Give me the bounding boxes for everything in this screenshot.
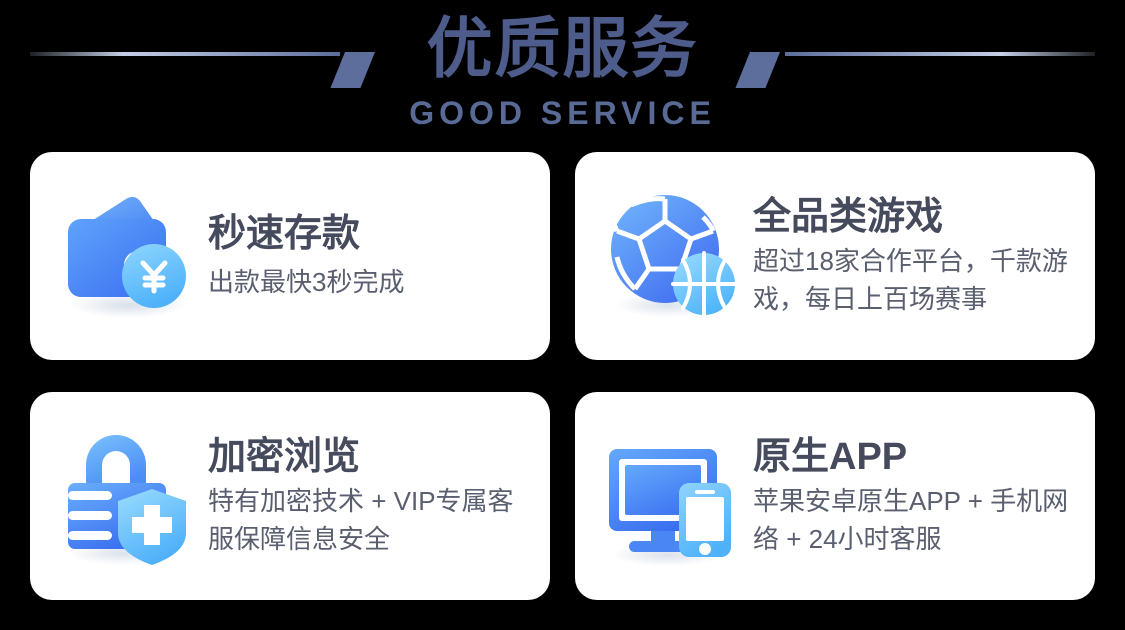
soccer-basketball-icon (605, 181, 743, 331)
page-subtitle: GOOD SERVICE (0, 94, 1125, 132)
service-card-native-app-text: 原生APP 苹果安卓原生APP + 手机网络 + 24小时客服 (753, 434, 1073, 558)
card-title: 全品类游戏 (753, 194, 1073, 240)
card-title: 秒速存款 (208, 211, 528, 257)
service-card-native-app[interactable]: 原生APP 苹果安卓原生APP + 手机网络 + 24小时客服 (575, 392, 1095, 600)
card-title: 原生APP (753, 434, 1073, 480)
monitor-phone-icon (605, 421, 743, 571)
service-card-grid: 秒速存款 出款最快3秒完成 (30, 152, 1095, 600)
service-card-games[interactable]: 全品类游戏 超过18家合作平台，千款游戏，每日上百场赛事 (575, 152, 1095, 360)
service-card-games-text: 全品类游戏 超过18家合作平台，千款游戏，每日上百场赛事 (753, 194, 1073, 318)
lock-shield-icon (60, 421, 198, 571)
page-title: 优质服务 (0, 8, 1125, 88)
card-description: 超过18家合作平台，千款游戏，每日上百场赛事 (753, 242, 1073, 318)
service-card-encryption[interactable]: 加密浏览 特有加密技术 + VIP专属客服保障信息安全 (30, 392, 550, 600)
page-header: 优质服务 GOOD SERVICE (0, 0, 1125, 140)
service-card-deposit[interactable]: 秒速存款 出款最快3秒完成 (30, 152, 550, 360)
card-title: 加密浏览 (208, 434, 528, 480)
card-description: 特有加密技术 + VIP专属客服保障信息安全 (208, 482, 528, 558)
service-card-encryption-text: 加密浏览 特有加密技术 + VIP专属客服保障信息安全 (208, 434, 528, 558)
service-card-deposit-text: 秒速存款 出款最快3秒完成 (208, 211, 528, 301)
wallet-coin-icon (60, 181, 198, 331)
card-description: 出款最快3秒完成 (208, 263, 528, 301)
card-description: 苹果安卓原生APP + 手机网络 + 24小时客服 (753, 482, 1073, 558)
